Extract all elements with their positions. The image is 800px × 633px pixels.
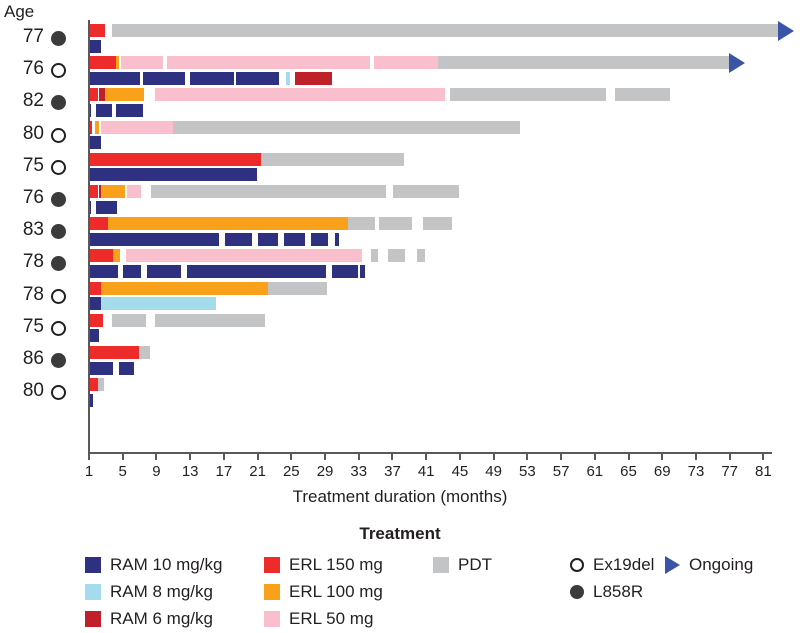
- x-tick-label: 69: [647, 463, 677, 480]
- x-tick-label: 33: [344, 463, 374, 480]
- x-tick-label: 65: [614, 463, 644, 480]
- age-axis-title: Age: [4, 2, 34, 22]
- bar-segment-erl100: [116, 56, 119, 69]
- legend-item[interactable]: Ongoing: [665, 554, 753, 576]
- bar-segment-pdt: [371, 249, 378, 262]
- age-label: 82: [2, 90, 44, 112]
- x-tick-label: 37: [377, 463, 407, 480]
- age-label: 76: [2, 187, 44, 209]
- bar-segment-ram10: [123, 265, 141, 278]
- legend-label: RAM 8 mg/kg: [110, 582, 213, 602]
- legend-swatch-ram8: [85, 584, 101, 600]
- bar-segment-pdt: [615, 88, 670, 101]
- x-tick-label: 41: [411, 463, 441, 480]
- x-tick: [695, 452, 697, 460]
- bar-segment-erl150: [88, 24, 105, 37]
- legend-item[interactable]: RAM 8 mg/kg: [85, 581, 213, 603]
- bar-segment-erl150: [88, 217, 108, 230]
- x-tick: [88, 452, 90, 460]
- bar-segment-erl150: [88, 249, 113, 262]
- bar-segment-ram8: [101, 297, 216, 310]
- legend-label: PDT: [458, 555, 492, 575]
- bar-segment-ram10: [335, 233, 339, 246]
- x-tick: [391, 452, 393, 460]
- legend-swatch-erl150: [264, 557, 280, 573]
- bar-segment-erl150: [88, 346, 139, 359]
- bar-segment-ram10: [147, 265, 181, 278]
- bar-segment-pdt: [423, 217, 453, 230]
- bar-segment-ram10: [143, 72, 185, 85]
- x-tick: [358, 452, 360, 460]
- bar-segment-ram10: [88, 233, 219, 246]
- bar-segment-ram10: [190, 72, 234, 85]
- x-tick: [324, 452, 326, 460]
- age-label: 76: [2, 58, 44, 80]
- legend-swatch-ram6: [85, 611, 101, 627]
- x-tick: [762, 452, 764, 460]
- ongoing-arrow-icon: [729, 53, 745, 73]
- x-tick: [223, 452, 225, 460]
- legend-label: ERL 50 mg: [289, 609, 373, 629]
- legend-swatch-ram10: [85, 557, 101, 573]
- bar-segment-erl150: [88, 56, 116, 69]
- mutation-marker-ex19del: [51, 321, 66, 336]
- legend-title: Treatment: [0, 524, 800, 544]
- bar-segment-erl150: [88, 153, 261, 166]
- bar-segment-ram10: [236, 72, 279, 85]
- mutation-marker-ex19del: [51, 289, 66, 304]
- legend-item[interactable]: ERL 150 mg: [264, 554, 383, 576]
- bar-segment-pdt: [151, 185, 386, 198]
- x-tick-label: 49: [479, 463, 509, 480]
- bar-segment-ram10: [119, 362, 134, 375]
- legend-item[interactable]: RAM 10 mg/kg: [85, 554, 222, 576]
- legend-item[interactable]: L858R: [570, 581, 643, 603]
- bar-segment-ram10: [284, 233, 305, 246]
- x-tick-label: 77: [715, 463, 745, 480]
- bar-segment-erl100: [101, 282, 268, 295]
- age-label: 86: [2, 348, 44, 370]
- bar-segment-ram10: [116, 104, 143, 117]
- bar-segment-ram10: [96, 201, 117, 214]
- x-tick-label: 25: [276, 463, 306, 480]
- bar-segment-pdt: [379, 217, 412, 230]
- y-axis-line: [88, 20, 90, 454]
- filled-circle-icon: [570, 585, 584, 599]
- mutation-marker-ex19del: [51, 128, 66, 143]
- x-axis-title: Treatment duration (months): [0, 487, 800, 507]
- bar-segment-pdt: [450, 88, 607, 101]
- bar-segment-erl100: [105, 88, 145, 101]
- bar-segment-erl100: [101, 185, 125, 198]
- legend-label: Ongoing: [689, 555, 753, 575]
- bar-segment-ram10: [225, 233, 253, 246]
- legend-label: RAM 10 mg/kg: [110, 555, 222, 575]
- bar-segment-pdt: [173, 121, 519, 134]
- open-circle-icon: [570, 558, 584, 572]
- legend-label: ERL 150 mg: [289, 555, 383, 575]
- legend-label: RAM 6 mg/kg: [110, 609, 213, 629]
- mutation-marker-l858r: [51, 353, 66, 368]
- x-tick: [189, 452, 191, 460]
- bar-segment-erl50: [167, 56, 370, 69]
- legend-item[interactable]: ERL 100 mg: [264, 581, 383, 603]
- legend-item[interactable]: RAM 6 mg/kg: [85, 608, 213, 630]
- age-label: 80: [2, 123, 44, 145]
- x-tick: [290, 452, 292, 460]
- bar-segment-pdt: [155, 314, 265, 327]
- legend-label: ERL 100 mg: [289, 582, 383, 602]
- x-tick-label: 9: [141, 463, 171, 480]
- mutation-marker-l858r: [51, 224, 66, 239]
- x-tick: [661, 452, 663, 460]
- x-tick: [459, 452, 461, 460]
- age-label: 75: [2, 316, 44, 338]
- mutation-marker-ex19del: [51, 160, 66, 175]
- bar-segment-pdt: [417, 249, 425, 262]
- bar-segment-ram10: [311, 233, 328, 246]
- mutation-marker-l858r: [51, 95, 66, 110]
- x-tick: [526, 452, 528, 460]
- bar-segment-pdt: [112, 24, 778, 37]
- bar-segment-ram10: [88, 362, 113, 375]
- bar-segment-ram10: [258, 233, 277, 246]
- bar-segment-erl100: [108, 217, 347, 230]
- bar-segment-pdt: [393, 185, 459, 198]
- mutation-marker-ex19del: [51, 385, 66, 400]
- age-label: 80: [2, 380, 44, 402]
- legend-label: L858R: [593, 582, 643, 602]
- bar-segment-erl100: [95, 121, 99, 134]
- ongoing-arrow-icon: [778, 21, 794, 41]
- bar-segment-pdt: [438, 56, 729, 69]
- x-tick-label: 61: [580, 463, 610, 480]
- bar-segment-ram8: [286, 72, 290, 85]
- bar-segment-pdt: [139, 346, 150, 359]
- bar-segment-pdt: [348, 217, 375, 230]
- x-tick-label: 81: [748, 463, 778, 480]
- bar-segment-erl100: [113, 249, 120, 262]
- x-tick-label: 21: [243, 463, 273, 480]
- bar-segment-ram10: [88, 168, 257, 181]
- bar-segment-erl50: [101, 121, 173, 134]
- x-tick-label: 17: [209, 463, 239, 480]
- bar-segment-erl50: [126, 249, 362, 262]
- x-tick: [493, 452, 495, 460]
- legend-swatch-erl50: [264, 611, 280, 627]
- x-tick: [425, 452, 427, 460]
- bar-segment-ram10: [96, 104, 112, 117]
- x-tick-label: 57: [546, 463, 576, 480]
- legend-swatch-erl100: [264, 584, 280, 600]
- age-label: 75: [2, 155, 44, 177]
- x-tick-label: 13: [175, 463, 205, 480]
- age-label: 78: [2, 284, 44, 306]
- x-tick-label: 1: [74, 463, 104, 480]
- bar-segment-pdt: [98, 378, 104, 391]
- bar-segment-erl50: [127, 185, 141, 198]
- bar-segment-ram10: [88, 265, 118, 278]
- x-tick-label: 45: [445, 463, 475, 480]
- x-tick-label: 29: [310, 463, 340, 480]
- x-tick: [594, 452, 596, 460]
- mutation-marker-ex19del: [51, 63, 66, 78]
- age-label: 83: [2, 219, 44, 241]
- bar-segment-ram10: [187, 265, 325, 278]
- legend-swatch-pdt: [433, 557, 449, 573]
- x-tick: [257, 452, 259, 460]
- legend-item[interactable]: ERL 50 mg: [264, 608, 373, 630]
- bar-segment-ram6: [295, 72, 332, 85]
- legend: Treatment RAM 10 mg/kgRAM 8 mg/kgRAM 6 m…: [0, 524, 800, 632]
- bar-segment-pdt: [112, 314, 147, 327]
- x-tick-label: 5: [108, 463, 138, 480]
- legend-label: Ex19del: [593, 555, 654, 575]
- x-tick: [729, 452, 731, 460]
- mutation-marker-l858r: [51, 192, 66, 207]
- legend-item[interactable]: PDT: [433, 554, 492, 576]
- x-tick: [560, 452, 562, 460]
- x-tick: [122, 452, 124, 460]
- bar-segment-erl150: [88, 314, 103, 327]
- bar-segment-ram10: [88, 72, 140, 85]
- ongoing-arrow-icon: [665, 556, 680, 574]
- x-tick-label: 73: [681, 463, 711, 480]
- bar-segment-erl50: [121, 56, 163, 69]
- bar-segment-erl50: [155, 88, 446, 101]
- age-label: 77: [2, 26, 44, 48]
- bar-segment-pdt: [268, 282, 327, 295]
- mutation-marker-l858r: [51, 31, 66, 46]
- x-tick-label: 53: [512, 463, 542, 480]
- swimmer-plot: Age 777682807576837878758680 15913172125…: [0, 0, 800, 633]
- bar-segment-pdt: [261, 153, 404, 166]
- x-tick: [628, 452, 630, 460]
- bar-segment-ram10: [360, 265, 365, 278]
- x-tick: [155, 452, 157, 460]
- bar-segment-pdt: [388, 249, 405, 262]
- bar-segment-ram10: [332, 265, 358, 278]
- age-label: 78: [2, 251, 44, 273]
- legend-item[interactable]: Ex19del: [570, 554, 654, 576]
- mutation-marker-l858r: [51, 256, 66, 271]
